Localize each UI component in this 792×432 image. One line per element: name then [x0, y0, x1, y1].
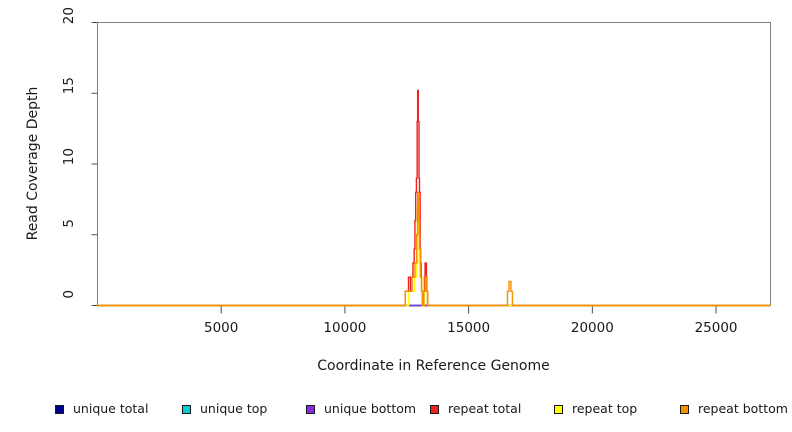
- plot-frame: [98, 23, 771, 306]
- legend-item-unique-total[interactable]: unique total: [55, 398, 148, 420]
- legend-item-repeat-bottom[interactable]: repeat bottom: [680, 398, 788, 420]
- legend-label: repeat bottom: [698, 403, 788, 416]
- x-tick-label: 20000: [557, 320, 627, 336]
- coverage-depth-chart: Read Coverage Depth Coordinate in Refere…: [0, 0, 792, 432]
- y-tick-label: 20: [61, 7, 77, 37]
- legend-item-unique-top[interactable]: unique top: [182, 398, 267, 420]
- legend-label: repeat total: [448, 403, 521, 416]
- legend-label: repeat top: [572, 403, 637, 416]
- legend-swatch-icon: [430, 405, 439, 414]
- x-tick-label: 10000: [310, 320, 380, 336]
- x-tick-label: 5000: [186, 320, 256, 336]
- legend-swatch-icon: [554, 405, 563, 414]
- legend-swatch-icon: [182, 405, 191, 414]
- x-axis-title: Coordinate in Reference Genome: [97, 358, 770, 374]
- y-tick-label: 10: [61, 148, 77, 178]
- x-tick-label: 15000: [434, 320, 504, 336]
- y-tick-label: 15: [61, 77, 77, 107]
- y-axis-title: Read Coverage Depth: [22, 22, 44, 305]
- legend-item-unique-bottom[interactable]: unique bottom: [306, 398, 416, 420]
- legend-label: unique bottom: [324, 403, 416, 416]
- y-tick-label: 0: [61, 290, 77, 320]
- legend-item-repeat-total[interactable]: repeat total: [430, 398, 521, 420]
- x-tick-label: 25000: [681, 320, 751, 336]
- y-tick-label: 5: [61, 219, 77, 249]
- legend-swatch-icon: [306, 405, 315, 414]
- chart-legend: unique totalunique topunique bottomrepea…: [0, 398, 792, 422]
- legend-swatch-icon: [680, 405, 689, 414]
- legend-label: unique top: [200, 403, 267, 416]
- legend-swatch-icon: [55, 405, 64, 414]
- legend-label: unique total: [73, 403, 148, 416]
- plot-border: [98, 23, 771, 306]
- legend-item-repeat-top[interactable]: repeat top: [554, 398, 637, 420]
